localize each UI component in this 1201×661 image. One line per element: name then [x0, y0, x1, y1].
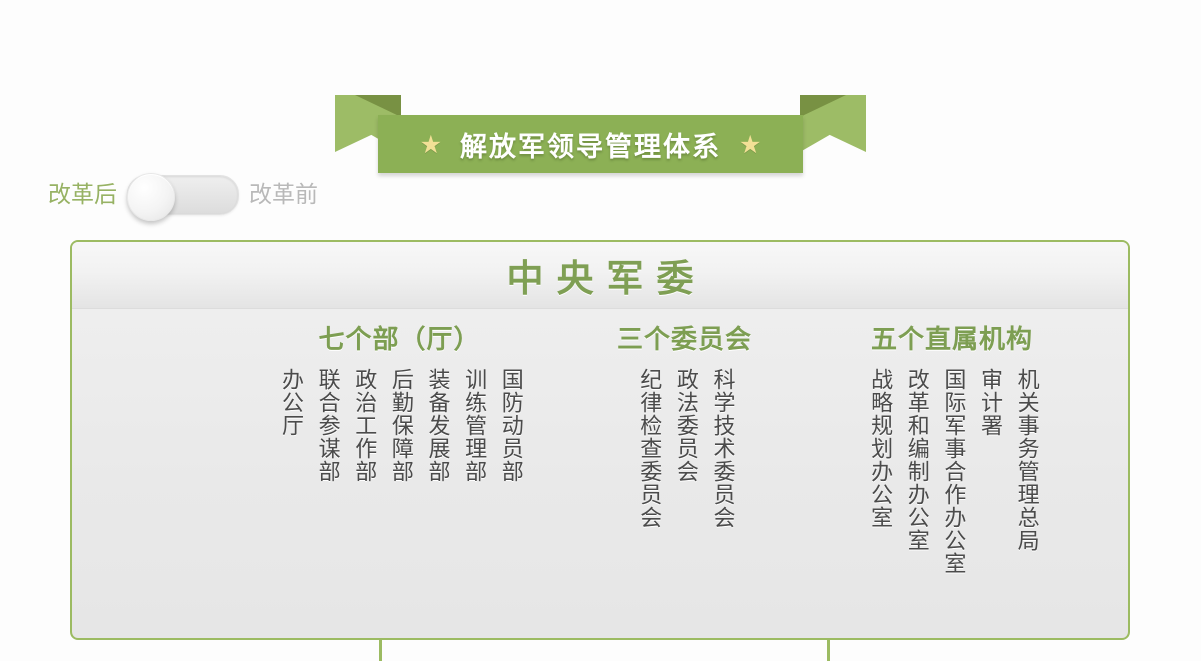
reform-toggle-group[interactable]: 改革后 改革前 — [48, 175, 318, 215]
group-committees-items: 科学技术委员会 政法委员会 纪律检查委员会 — [577, 368, 792, 529]
banner-title: 解放军领导管理体系 — [460, 125, 721, 164]
star-icon-right: ★ — [739, 132, 761, 157]
group-direct-organs-items: 机关事务管理总局 审计署 国际军事合作办公室 改革和编制办公室 战略规划办公室 — [787, 368, 1117, 575]
list-item[interactable]: 机关事务管理总局 — [1007, 368, 1044, 552]
panel-header: 中央军委 — [72, 242, 1128, 309]
panel-title: 中央军委 — [494, 248, 707, 302]
list-item[interactable]: 训练管理部 — [454, 368, 491, 483]
group-departments-title: 七个部（厅） — [227, 319, 572, 356]
list-item[interactable]: 办公厅 — [271, 368, 308, 437]
central-military-commission-panel: 中央军委 七个部（厅） 国防动员部 训练管理部 装备发展部 后勤保障部 政治工作… — [70, 240, 1130, 640]
group-departments: 七个部（厅） 国防动员部 训练管理部 装备发展部 后勤保障部 政治工作部 联合参… — [227, 309, 572, 483]
toggle-knob[interactable] — [127, 173, 175, 221]
list-item[interactable]: 政法委员会 — [666, 368, 703, 483]
panel-body: 七个部（厅） 国防动员部 训练管理部 装备发展部 后勤保障部 政治工作部 联合参… — [72, 309, 1128, 640]
list-item[interactable]: 纪律检查委员会 — [630, 368, 667, 529]
group-direct-organs: 五个直属机构 机关事务管理总局 审计署 国际军事合作办公室 改革和编制办公室 战… — [787, 309, 1117, 575]
group-departments-items: 国防动员部 训练管理部 装备发展部 后勤保障部 政治工作部 联合参谋部 办公厅 — [227, 368, 572, 483]
toggle-label-before[interactable]: 改革前 — [249, 184, 318, 207]
list-item[interactable]: 后勤保障部 — [381, 368, 418, 483]
list-item[interactable]: 国防动员部 — [491, 368, 528, 483]
list-item[interactable]: 国际军事合作办公室 — [934, 368, 971, 575]
list-item[interactable]: 政治工作部 — [345, 368, 382, 483]
ribbon-banner: ★ 解放军领导管理体系 ★ — [0, 55, 1201, 160]
connector-line-right — [827, 640, 830, 661]
toggle-label-after[interactable]: 改革后 — [48, 184, 117, 207]
group-committees-title: 三个委员会 — [577, 319, 792, 356]
list-item[interactable]: 改革和编制办公室 — [897, 368, 934, 552]
list-item[interactable]: 联合参谋部 — [308, 368, 345, 483]
group-committees: 三个委员会 科学技术委员会 政法委员会 纪律检查委员会 — [577, 309, 792, 529]
list-item[interactable]: 科学技术委员会 — [703, 368, 740, 529]
list-item[interactable]: 审计署 — [970, 368, 1007, 437]
ribbon-plate: ★ 解放军领导管理体系 ★ — [378, 115, 803, 173]
connector-line-left — [379, 640, 382, 661]
reform-toggle-switch[interactable] — [127, 175, 239, 215]
list-item[interactable]: 战略规划办公室 — [860, 368, 897, 529]
list-item[interactable]: 装备发展部 — [418, 368, 455, 483]
group-direct-organs-title: 五个直属机构 — [787, 319, 1117, 356]
star-icon-left: ★ — [420, 132, 442, 157]
